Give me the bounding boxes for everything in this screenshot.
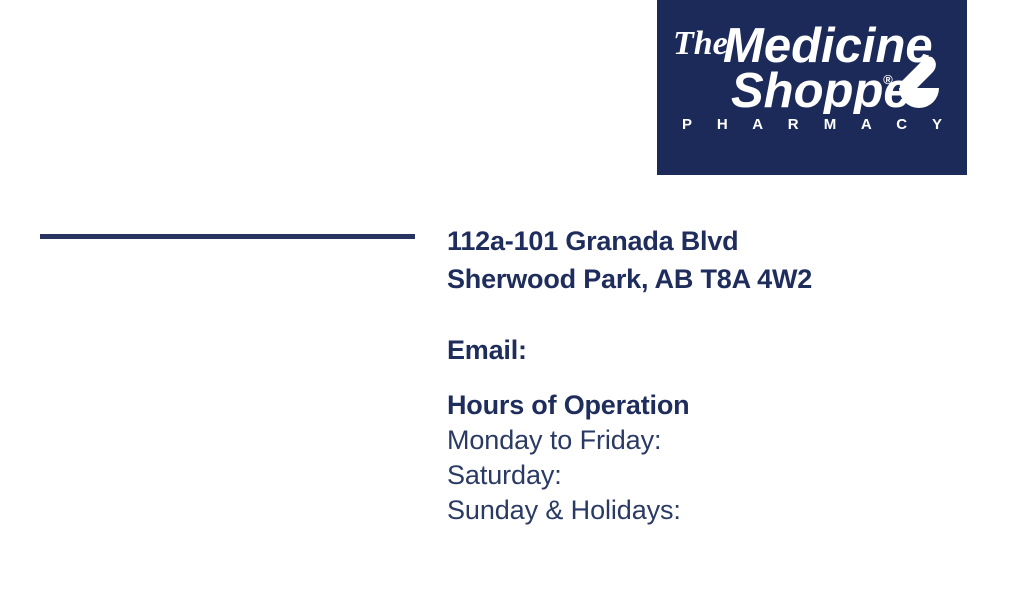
registered-trademark-icon: ® [883, 72, 893, 87]
logo-pharmacy-text: P H A R M A C Y [657, 116, 967, 134]
email-label: Email: [447, 332, 967, 368]
address-line-1: 112a-101 Granada Blvd [447, 222, 967, 260]
location-card: The Medicine Shoppe ® P H A R M A C Y 11… [0, 0, 1025, 590]
hours-of-operation-heading: Hours of Operation [447, 387, 967, 423]
horizontal-rule-divider [40, 234, 415, 239]
hours-row-saturday: Saturday: [447, 458, 967, 493]
logo-the-text: The [673, 25, 728, 62]
hours-row-weekday: Monday to Friday: [447, 423, 967, 458]
medicine-shoppe-logo: The Medicine Shoppe ® P H A R M A C Y [657, 0, 967, 175]
logo-wordmark-svg: The Medicine Shoppe ® [671, 22, 953, 114]
store-info-block: 112a-101 Granada Blvd Sherwood Park, AB … [447, 222, 967, 528]
brand-panel: The Medicine Shoppe ® P H A R M A C Y [657, 0, 967, 175]
address-line-2: Sherwood Park, AB T8A 4W2 [447, 260, 967, 298]
hours-row-sunday-holidays: Sunday & Holidays: [447, 493, 967, 528]
